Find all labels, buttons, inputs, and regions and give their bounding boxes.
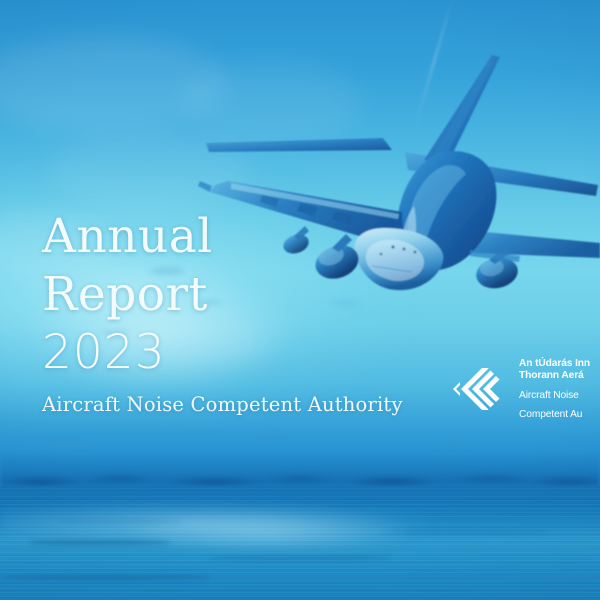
sea-dark-streak <box>60 520 180 523</box>
logo-irish-line-1: An tÚdarás Inn <box>519 358 590 370</box>
cover-title-block: Annual Report 2023 Aircraft Noise Compet… <box>42 208 403 416</box>
cover-subtitle: Aircraft Noise Competent Authority <box>42 393 403 416</box>
distant-cloud-speck <box>42 440 92 449</box>
sea-dark-streak <box>390 530 550 534</box>
sea-glare-highlight <box>120 512 420 552</box>
sea-dark-streak <box>210 556 390 560</box>
title-line-annual: Annual <box>42 208 403 266</box>
logo-english-line-2: Competent Au <box>519 409 590 421</box>
sound-wave-diamond-icon <box>452 360 510 418</box>
distant-cloud-speck <box>430 440 470 447</box>
distant-cloud-speck <box>250 430 294 437</box>
sea-dark-streak <box>30 540 170 545</box>
sea-dark-streak <box>0 575 210 580</box>
logo-wordmark: An tÚdarás Inn Thorann Aerá Aircraft Noi… <box>519 357 590 422</box>
cloud-wisp <box>180 60 360 144</box>
organisation-logo: An tÚdarás Inn Thorann Aerá Aircraft Noi… <box>452 357 600 422</box>
annual-report-cover: Annual Report 2023 Aircraft Noise Compet… <box>0 0 600 600</box>
logo-english-line-1: Aircraft Noise <box>519 390 590 402</box>
logo-irish-line-2: Thorann Aerá <box>519 370 590 382</box>
title-line-report: Report <box>42 266 403 324</box>
title-year: 2023 <box>42 324 403 382</box>
cloud-wisp <box>48 132 252 210</box>
